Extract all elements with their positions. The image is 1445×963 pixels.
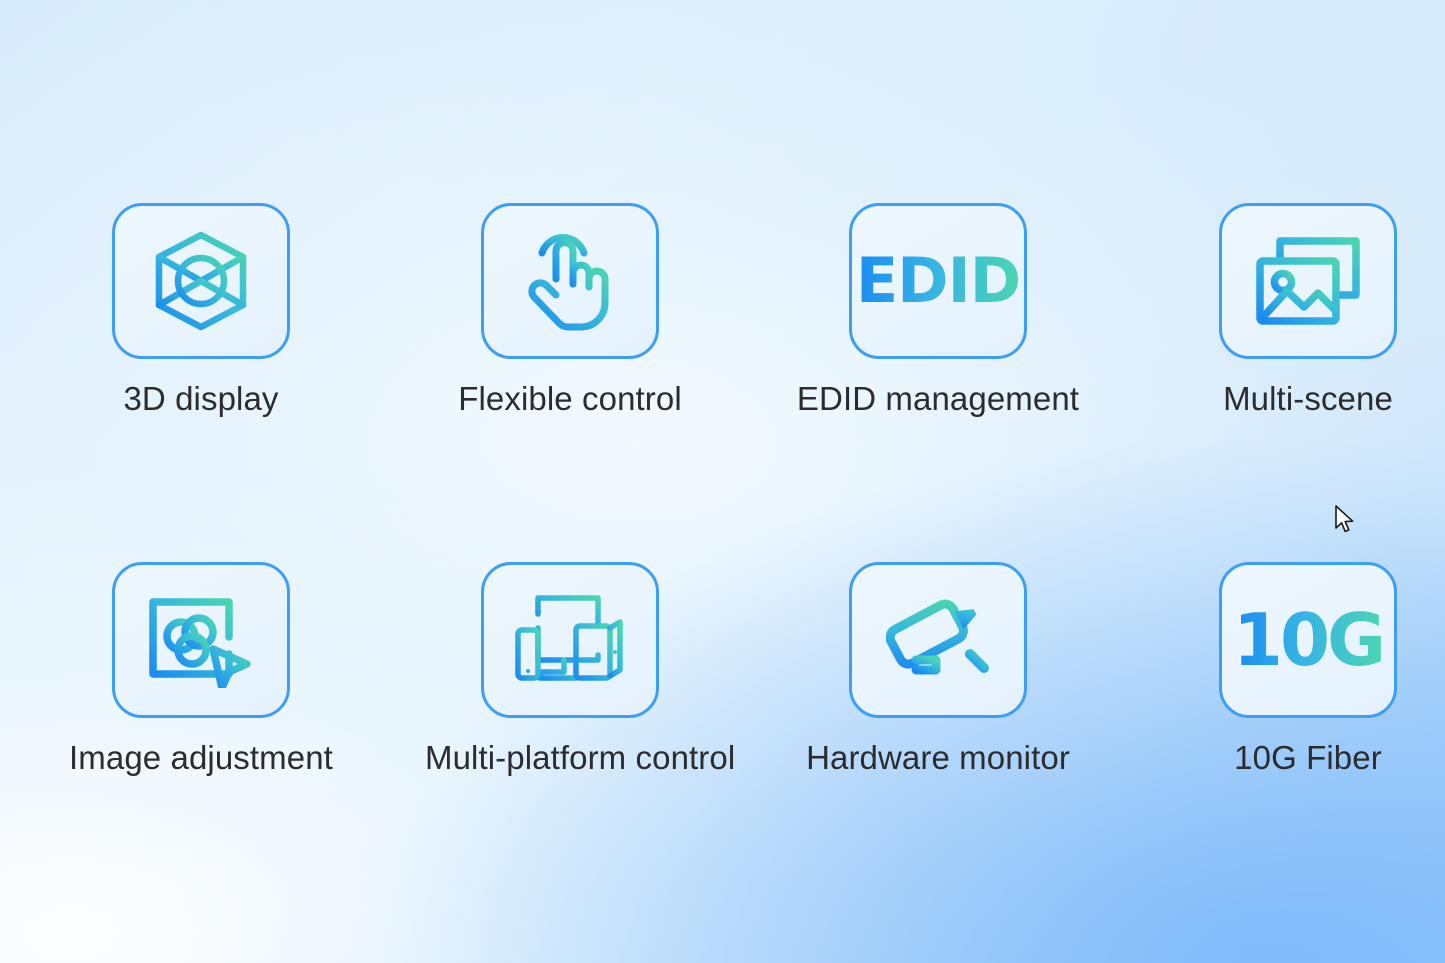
edid-text-icon: EDID (856, 250, 1020, 312)
feature-label: Hardware monitor (793, 741, 1083, 776)
feature-item-image-adjustment[interactable]: Image adjustment (56, 562, 346, 776)
feature-item-10g-fiber[interactable]: 10G 10G Fiber (1163, 562, 1445, 776)
stacked-images-icon (1254, 233, 1362, 329)
cctv-camera-icon (886, 588, 990, 692)
feature-item-flexible-control[interactable]: Flexible control (425, 203, 715, 417)
feature-item-3d-display[interactable]: 3D display (56, 203, 346, 417)
feature-label: Multi-platform control (425, 741, 715, 776)
cube-3d-icon (149, 229, 253, 333)
feature-card-multi-platform-control[interactable] (481, 562, 659, 718)
feature-item-edid-management[interactable]: EDID EDID management (793, 203, 1083, 417)
feature-label: Multi-scene (1163, 382, 1445, 417)
feature-item-hardware-monitor[interactable]: Hardware monitor (793, 562, 1083, 776)
feature-label: 3D display (56, 382, 346, 417)
feature-label: Flexible control (425, 382, 715, 417)
feature-item-multi-scene[interactable]: Multi-scene (1163, 203, 1445, 417)
color-circles-screen-cursor-icon (147, 592, 255, 688)
feature-label: EDID management (793, 382, 1083, 417)
feature-card-multi-scene[interactable] (1219, 203, 1397, 359)
feature-grid: 3D display (0, 0, 1445, 963)
feature-card-flexible-control[interactable] (481, 203, 659, 359)
feature-card-image-adjustment[interactable] (112, 562, 290, 718)
feature-label: Image adjustment (56, 741, 346, 776)
multi-device-icon (514, 592, 626, 688)
ten-gig-text-icon: 10G (1233, 604, 1383, 676)
feature-label: 10G Fiber (1163, 741, 1445, 776)
tap-hand-icon (520, 229, 620, 333)
feature-card-10g-fiber[interactable]: 10G (1219, 562, 1397, 718)
feature-card-edid-management[interactable]: EDID (849, 203, 1027, 359)
feature-item-multi-platform-control[interactable]: Multi-platform control (425, 562, 715, 776)
feature-card-hardware-monitor[interactable] (849, 562, 1027, 718)
feature-card-3d-display[interactable] (112, 203, 290, 359)
